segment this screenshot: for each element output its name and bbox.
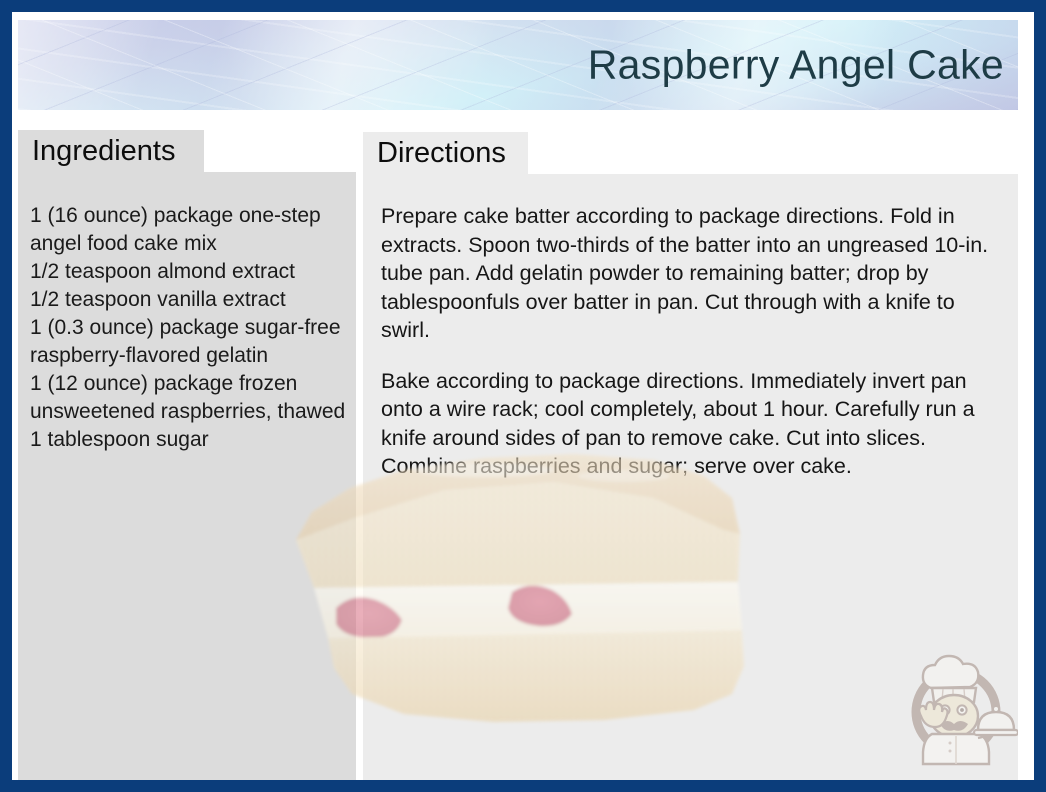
ingredients-panel: 1 (16 ounce) package one-step angel food… [18,172,356,780]
list-item: 1 tablespoon sugar [30,426,350,454]
direction-step: Prepare cake batter according to package… [381,202,1004,345]
list-item: 1 (16 ounce) package one-step angel food… [30,202,350,258]
ingredients-list: 1 (16 ounce) package one-step angel food… [30,202,350,454]
recipe-card: Raspberry Angel Cake Ingredients Directi… [0,0,1046,792]
tab-ingredients[interactable]: Ingredients [18,130,204,172]
tab-directions-label: Directions [377,137,506,170]
list-item: 1 (0.3 ounce) package sugar-free raspber… [30,314,350,370]
directions-body: Prepare cake batter according to package… [381,202,1004,481]
page-title: Raspberry Angel Cake [588,42,1004,89]
list-item: 1/2 teaspoon vanilla extract [30,286,350,314]
list-item: 1 (12 ounce) package frozen unsweetened … [30,370,350,426]
chef-logo-icon [898,646,1018,766]
list-item: 1/2 teaspoon almond extract [30,258,350,286]
header-banner: Raspberry Angel Cake [18,20,1018,110]
tab-directions[interactable]: Directions [363,132,528,174]
tab-ingredients-label: Ingredients [32,135,176,168]
direction-step: Bake according to package directions. Im… [381,367,1004,481]
card-inner-surface: Raspberry Angel Cake Ingredients Directi… [12,12,1034,780]
